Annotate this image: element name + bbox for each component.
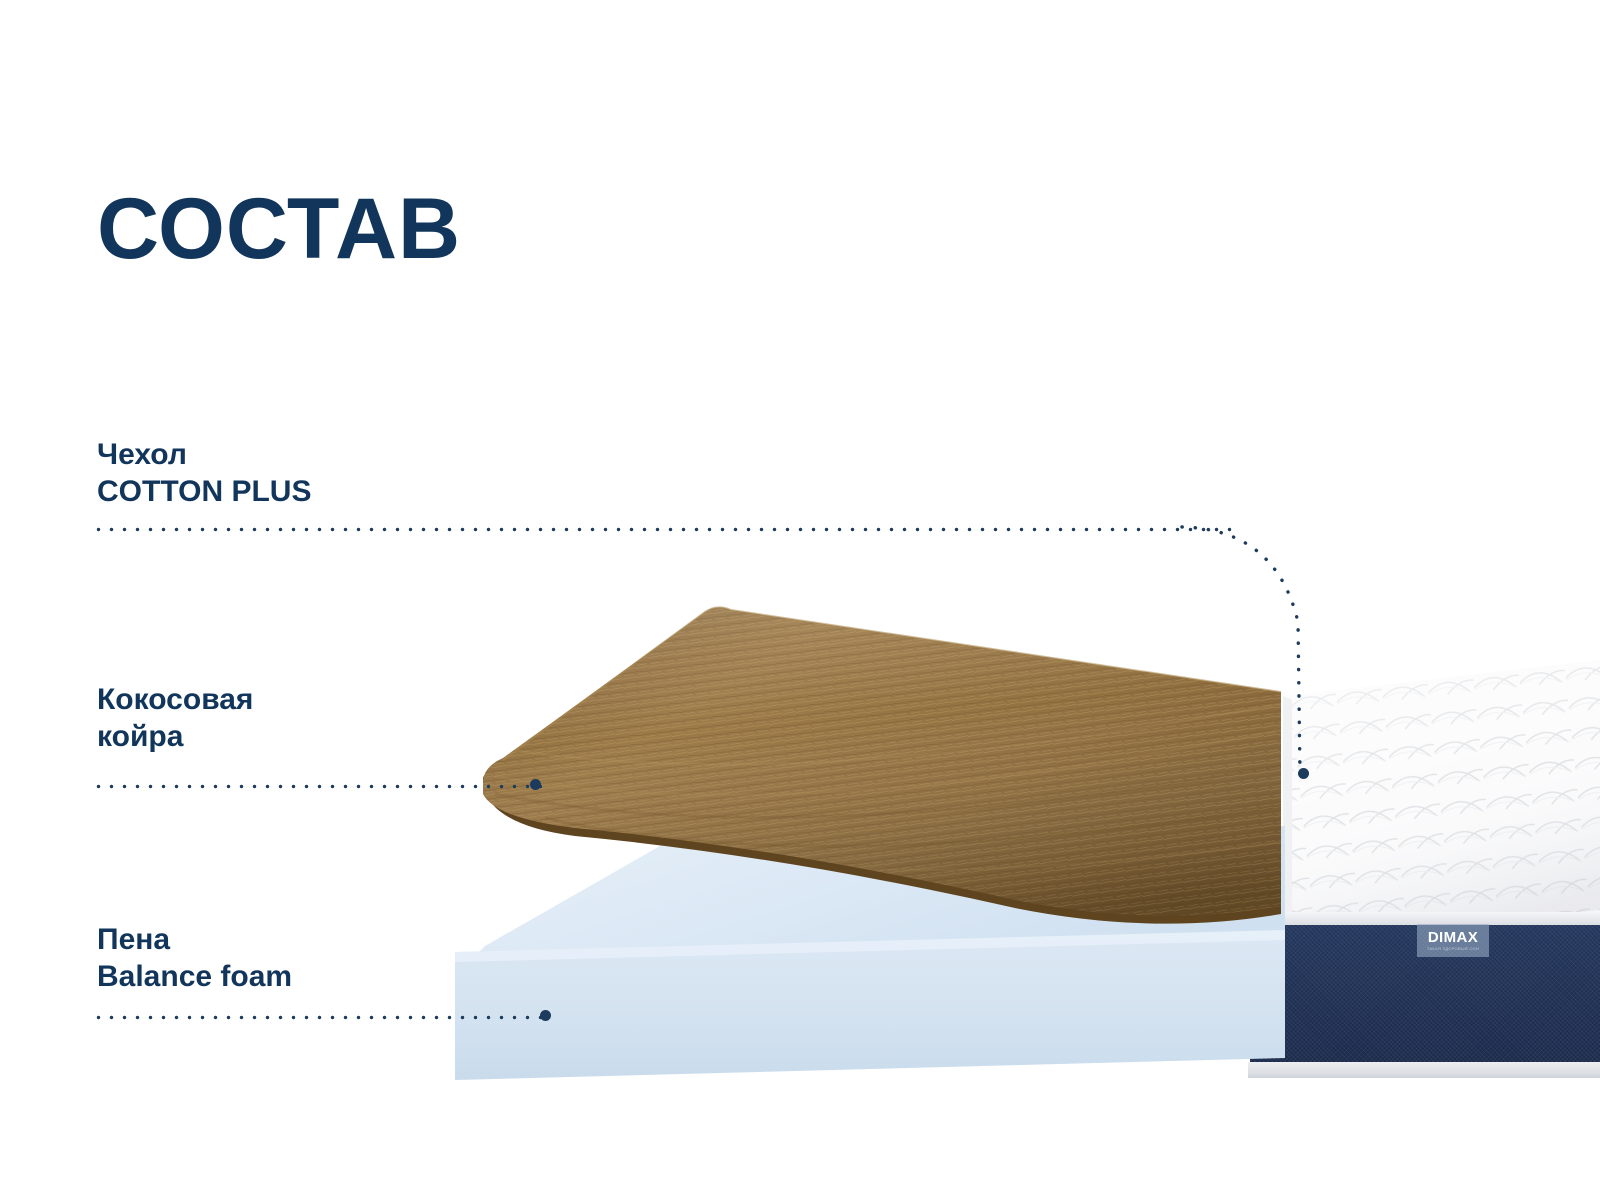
leader-line-coir (92, 784, 542, 789)
leader-endpoint-coir (530, 779, 541, 790)
callout-foam-line2: Balance foam (97, 959, 292, 996)
dimax-brand-badge: DIMAX ТАКАЯ ЗДОРОВЫЙ СОН (1417, 924, 1489, 957)
cover-piping-bottom (1248, 1062, 1600, 1078)
callout-cover-line1: Чехол (97, 437, 311, 474)
callout-coir-line1: Кокосовая (97, 682, 253, 719)
infographic-canvas: СОСТАВ (0, 0, 1600, 1201)
foam-layer-front-face (455, 930, 1285, 1080)
leader-line-foam (92, 1015, 550, 1020)
callout-coir-line2: койра (97, 719, 253, 756)
callout-coir: Кокосовая койра (97, 682, 253, 755)
mattress-assembly-illustration: DIMAX ТАКАЯ ЗДОРОВЫЙ СОН (0, 0, 1600, 1201)
coir-layer (455, 580, 1285, 950)
callout-cover-line2: COTTON PLUS (97, 474, 311, 511)
brand-subtitle: ТАКАЯ ЗДОРОВЫЙ СОН (1427, 947, 1479, 951)
leader-endpoint-cover (1298, 768, 1309, 779)
brand-name: DIMAX (1428, 930, 1478, 945)
leader-line-cover (92, 527, 1232, 532)
callout-cover: Чехол COTTON PLUS (97, 437, 311, 510)
leader-endpoint-foam (540, 1010, 551, 1021)
callout-foam: Пена Balance foam (97, 922, 292, 995)
callout-foam-line1: Пена (97, 922, 292, 959)
